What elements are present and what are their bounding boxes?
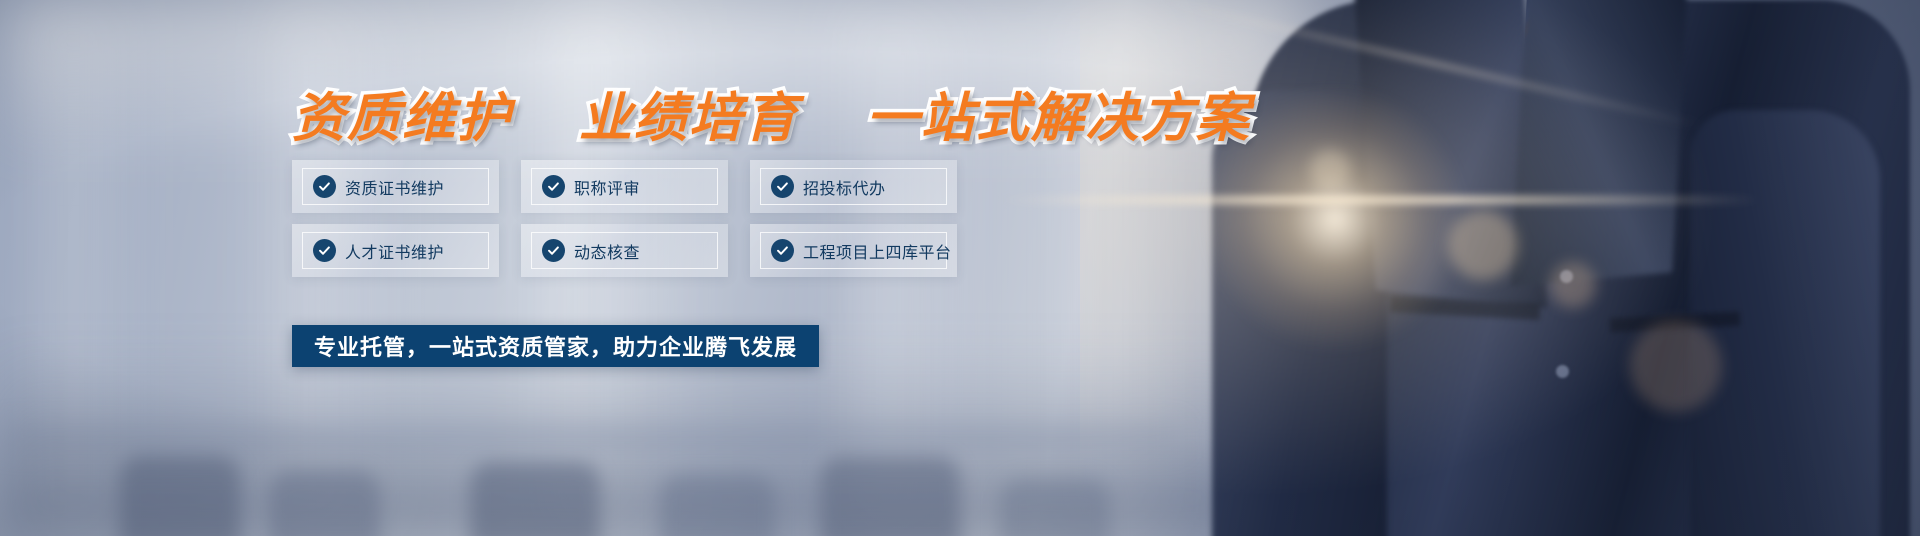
feature-card-title-evaluation[interactable]: 职称评审 xyxy=(521,160,728,213)
headline-part-3: 一站式解决方案 xyxy=(866,88,1251,149)
headline-part-2: 业绩培育 xyxy=(579,88,799,149)
feature-card-inner: 人才证书维护 xyxy=(302,232,489,269)
feature-card-talent-certificate[interactable]: 人才证书维护 xyxy=(292,224,499,277)
check-circle-icon xyxy=(313,175,336,198)
feature-card-grid: 资质证书维护 职称评审 xyxy=(292,160,979,277)
feature-card-inner: 工程项目上四库平台 xyxy=(760,232,947,269)
check-circle-icon xyxy=(313,239,336,262)
feature-card-label: 人才证书维护 xyxy=(345,239,444,263)
tagline-bar: 专业托管，一站式资质管家，助力企业腾飞发展 xyxy=(292,325,819,367)
check-circle-icon xyxy=(771,175,794,198)
feature-card-inner: 资质证书维护 xyxy=(302,168,489,205)
tagline-text: 专业托管，一站式资质管家，助力企业腾飞发展 xyxy=(314,330,797,362)
feature-card-inner: 招投标代办 xyxy=(760,168,947,205)
feature-card-inner: 动态核查 xyxy=(531,232,718,269)
feature-card-project-four-database-platform[interactable]: 工程项目上四库平台 xyxy=(750,224,957,277)
feature-card-inner: 职称评审 xyxy=(531,168,718,205)
check-circle-icon xyxy=(542,175,565,198)
feature-card-label: 资质证书维护 xyxy=(345,175,444,199)
feature-card-qualification-certificate[interactable]: 资质证书维护 xyxy=(292,160,499,213)
feature-card-row: 资质证书维护 职称评审 xyxy=(292,160,979,213)
feature-card-label: 动态核查 xyxy=(574,239,640,263)
hero-banner: 资质维护 业绩培育 一站式解决方案 资质证书维护 xyxy=(0,0,1920,536)
feature-card-label: 职称评审 xyxy=(574,175,640,199)
feature-card-row: 人才证书维护 动态核查 xyxy=(292,224,979,277)
feature-card-bidding-agency[interactable]: 招投标代办 xyxy=(750,160,957,213)
banner-headline: 资质维护 业绩培育 一站式解决方案 xyxy=(292,76,1251,152)
check-circle-icon xyxy=(542,239,565,262)
feature-card-label: 工程项目上四库平台 xyxy=(803,239,952,263)
feature-card-label: 招投标代办 xyxy=(803,175,886,199)
headline-part-1: 资质维护 xyxy=(292,88,512,149)
banner-content: 资质维护 业绩培育 一站式解决方案 资质证书维护 xyxy=(0,0,1920,536)
check-circle-icon xyxy=(771,239,794,262)
feature-card-dynamic-verification[interactable]: 动态核查 xyxy=(521,224,728,277)
